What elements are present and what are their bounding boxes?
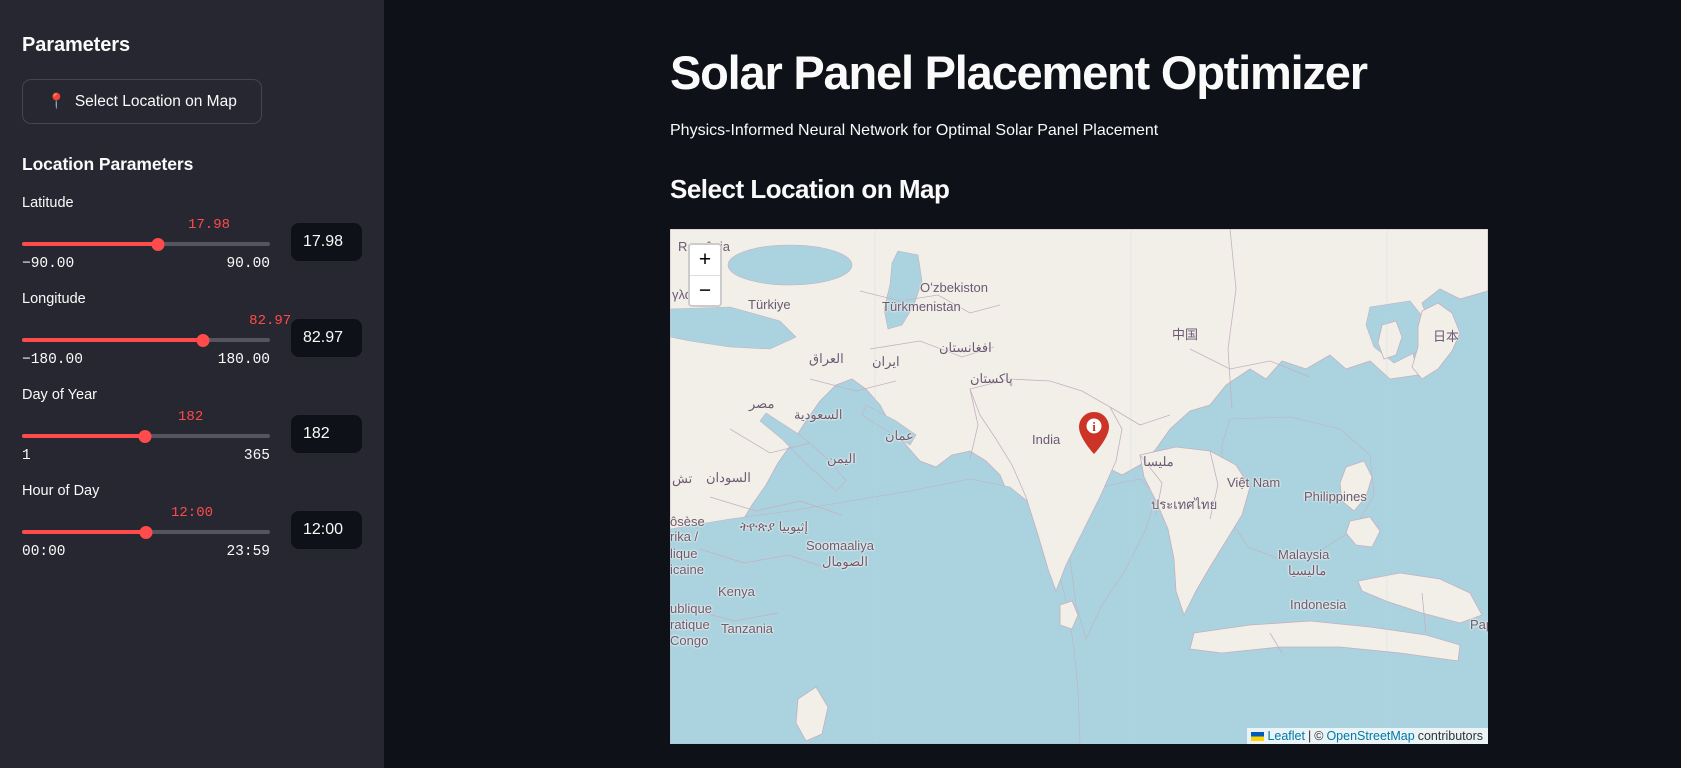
slider-thumb[interactable]: [152, 238, 165, 251]
leaflet-map[interactable]: RomâniaγλάTürkiyeOʻzbekistonTürkmenistan…: [670, 229, 1488, 744]
slider-min-label: −90.00: [22, 256, 74, 272]
main-content: Solar Panel Placement Optimizer Physics-…: [384, 0, 1681, 768]
slider-current-value: 12:00: [171, 505, 213, 521]
slider-group: Longitude82.97−180.00180.0082.97: [22, 291, 362, 368]
slider-label: Hour of Day: [22, 483, 270, 499]
sidebar-title: Parameters: [22, 34, 362, 57]
slider-track-fill: [22, 338, 203, 342]
slider-track[interactable]: [22, 521, 270, 543]
map-zoom-control[interactable]: + −: [688, 243, 722, 307]
openstreetmap-link[interactable]: OpenStreetMap: [1326, 729, 1414, 743]
slider-range: 1365: [22, 448, 270, 464]
slider-value-box[interactable]: 182: [291, 415, 362, 453]
slider-max-label: 23:59: [226, 544, 270, 560]
location-parameters-heading: Location Parameters: [22, 154, 362, 175]
slider-range: −90.0090.00: [22, 256, 270, 272]
slider-value-box[interactable]: 82.97: [291, 319, 362, 357]
slider-value-box[interactable]: 17.98: [291, 223, 362, 261]
page-subtitle: Physics-Informed Neural Network for Opti…: [670, 122, 1681, 140]
slider-thumb[interactable]: [197, 334, 210, 347]
slider-group: Latitude17.98−90.0090.0017.98: [22, 195, 362, 272]
slider-range: −180.00180.00: [22, 352, 270, 368]
slider-thumb[interactable]: [139, 430, 152, 443]
slider-min-label: 00:00: [22, 544, 66, 560]
attribution-copyright: ©: [1314, 729, 1323, 743]
slider-max-label: 90.00: [226, 256, 270, 272]
slider-current-value: 17.98: [188, 217, 230, 233]
ukraine-flag-icon: [1251, 732, 1264, 741]
slider-list: Latitude17.98−90.0090.0017.98Longitude82…: [22, 195, 362, 560]
leaflet-link[interactable]: Leaflet: [1267, 729, 1305, 743]
slider-track-fill: [22, 242, 158, 246]
page-title: Solar Panel Placement Optimizer: [670, 46, 1681, 100]
select-location-on-map-button[interactable]: 📍 Select Location on Map: [22, 79, 262, 124]
zoom-in-button[interactable]: +: [690, 245, 720, 275]
slider-track[interactable]: [22, 233, 270, 255]
slider-min-label: 1: [22, 448, 31, 464]
slider-label: Day of Year: [22, 387, 270, 403]
slider-current-value: 82.97: [249, 313, 291, 329]
svg-text:i: i: [1092, 419, 1096, 434]
slider-thumb[interactable]: [140, 526, 153, 539]
slider-label: Longitude: [22, 291, 270, 307]
select-location-button-label: Select Location on Map: [75, 93, 237, 111]
location-marker[interactable]: i: [1079, 412, 1109, 454]
zoom-out-button[interactable]: −: [690, 275, 720, 305]
slider-track[interactable]: [22, 329, 270, 351]
slider-track-fill: [22, 434, 145, 438]
sidebar: Parameters 📍 Select Location on Map Loca…: [0, 0, 384, 768]
map-tiles: [670, 229, 1488, 744]
slider-label: Latitude: [22, 195, 270, 211]
slider-track-fill: [22, 530, 146, 534]
slider-max-label: 365: [244, 448, 270, 464]
slider-range: 00:0023:59: [22, 544, 270, 560]
pin-icon: 📍: [47, 94, 66, 109]
map-attribution: Leaflet | © OpenStreetMap contributors: [1247, 728, 1488, 744]
attribution-contributors: contributors: [1418, 729, 1483, 743]
slider-min-label: −180.00: [22, 352, 83, 368]
attribution-separator: |: [1308, 729, 1311, 743]
app-root: Parameters 📍 Select Location on Map Loca…: [0, 0, 1681, 768]
slider-value-box[interactable]: 12:00: [291, 511, 362, 549]
slider-current-value: 182: [178, 409, 203, 425]
slider-track[interactable]: [22, 425, 270, 447]
section-heading-select-location: Select Location on Map: [670, 174, 1681, 205]
slider-group: Day of Year1821365182: [22, 387, 362, 464]
slider-max-label: 180.00: [218, 352, 270, 368]
info-marker-icon: i: [1079, 412, 1109, 454]
slider-group: Hour of Day12:0000:0023:5912:00: [22, 483, 362, 560]
